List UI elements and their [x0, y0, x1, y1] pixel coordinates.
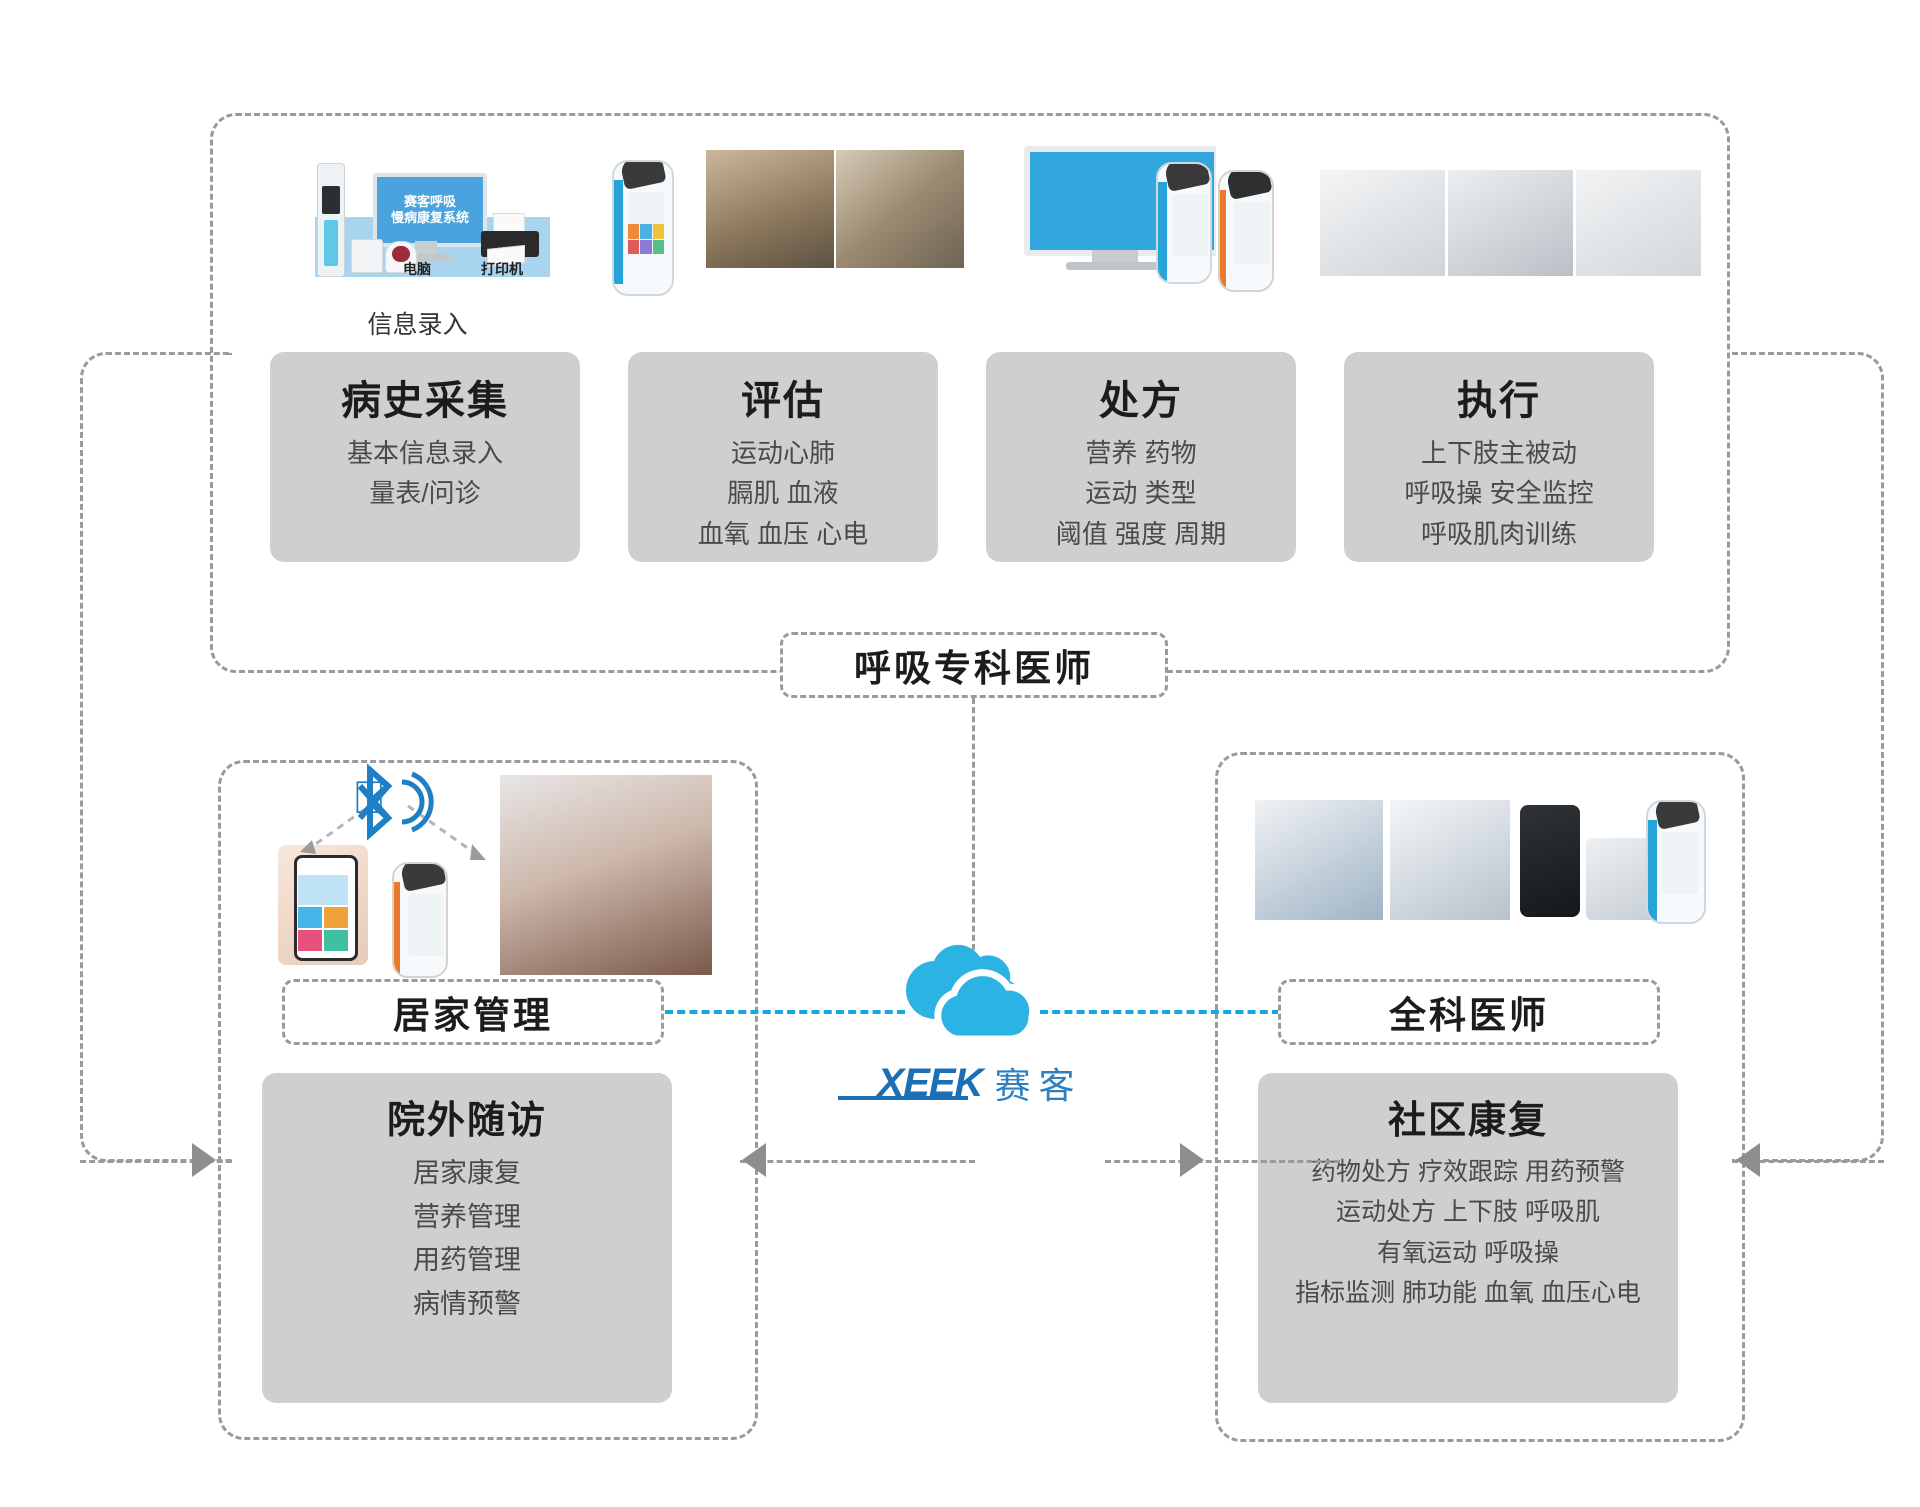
cloud-glyph: [890, 935, 1050, 1075]
community-spirometer-edge: [1648, 820, 1657, 924]
rehab-bike-photo: [1448, 170, 1573, 276]
monitor-stand: [415, 241, 437, 255]
blood-pressure-monitor-photo: [1320, 170, 1445, 276]
stage-card-prescription[interactable]: 处方 营养 药物 运动 类型 阈值 强度 周期: [986, 352, 1296, 562]
history-media-caption: 信息录入: [285, 305, 550, 341]
handheld-spirometer-icon: [1156, 162, 1212, 284]
second-handheld-device-icon: [1218, 170, 1274, 292]
label-printer: 打印机: [481, 259, 523, 279]
stage-line: 量表/问诊: [369, 473, 480, 513]
stage-line: 阈值 强度 周期: [1056, 514, 1226, 554]
stage-lines-execution: 上下肢主被动 呼吸操 安全监控 呼吸肌肉训练: [1404, 433, 1593, 554]
monitor-text-line2: 慢病康复系统: [391, 210, 469, 226]
arrow-into-right-panel: [1180, 1143, 1204, 1177]
printer-icon: [481, 213, 539, 259]
followup-title: 院外随访: [387, 1099, 547, 1144]
spirometer-edge: [614, 180, 623, 284]
pc-base: [1066, 262, 1166, 270]
community-spirometer-icon: [1646, 800, 1706, 924]
home-spirometer-edge: [394, 882, 400, 978]
followup-line: 营养管理: [413, 1196, 521, 1240]
handheld-mouthpiece: [1163, 162, 1210, 192]
home-spirometer-screen: [408, 894, 444, 956]
followup-line: 用药管理: [413, 1239, 521, 1283]
stage-lines-history: 基本信息录入 量表/问诊: [347, 433, 503, 514]
kiosk-body: [324, 220, 338, 266]
label-computer: 电脑: [403, 259, 431, 279]
stage-title-execution: 执行: [1457, 378, 1541, 425]
logo-underline-left: [838, 1096, 968, 1100]
smart-watch-photo: [1576, 170, 1701, 276]
arrow-toward-left-panel: [742, 1143, 766, 1177]
spirometer-app-tiles: [628, 224, 664, 254]
second-device-edge: [1220, 190, 1226, 292]
stage-card-history[interactable]: 病史采集 基本信息录入 量表/问诊: [270, 352, 580, 562]
specialist-to-cloud-connector: [972, 698, 975, 950]
arrow-toward-right-panel: [1736, 1143, 1760, 1177]
cloud-to-gp-connector: [1040, 1010, 1280, 1014]
stage-line: 基本信息录入: [347, 433, 503, 473]
pc-stand: [1092, 250, 1138, 262]
kiosk-screen: [322, 186, 340, 214]
diagram-canvas: 赛客呼吸 慢病康复系统 电脑 打印机 信息录入: [0, 0, 1920, 1507]
followup-line: 病情预警: [413, 1283, 521, 1327]
stage-title-history: 病史采集: [341, 378, 509, 425]
spirometer-mouthpiece: [619, 160, 666, 190]
patient-using-spirometer-photo: [500, 775, 712, 975]
stage-lines-assessment: 运动心肺 膈肌 血液 血氧 血压 心电: [698, 433, 868, 554]
history-media-group: 赛客呼吸 慢病康复系统 电脑 打印机: [285, 155, 550, 290]
followup-lines: 居家康复 营养管理 用药管理 病情预警: [413, 1152, 521, 1327]
brand-logo: XEEK 赛客: [835, 1055, 1125, 1111]
desktop-monitor-icon: 赛客呼吸 慢病康复系统: [373, 173, 487, 247]
arrow-into-left-panel: [192, 1143, 216, 1177]
stage-card-execution[interactable]: 执行 上下肢主被动 呼吸操 安全监控 呼吸肌肉训练: [1344, 352, 1654, 562]
monitor-text-line1: 赛客呼吸: [404, 194, 456, 210]
treadmill-photo: [836, 150, 964, 268]
community-title: 社区康复: [1388, 1099, 1548, 1144]
cloud-to-home-connector: [665, 1010, 905, 1014]
second-device-screen: [1234, 202, 1270, 264]
card-outpatient-followup[interactable]: 院外随访 居家康复 营养管理 用药管理 病情预警: [262, 1073, 672, 1403]
stage-line: 上下肢主被动: [1421, 433, 1577, 473]
stage-lines-prescription: 营养 药物 运动 类型 阈值 强度 周期: [1056, 433, 1226, 554]
stage-line: 运动心肺: [731, 433, 835, 473]
role-label-home-management[interactable]: 居家管理: [282, 979, 664, 1045]
role-label-respiratory-specialist[interactable]: 呼吸专科医师: [780, 632, 1168, 698]
mid-left-return-line: [740, 1160, 975, 1163]
stage-line: 营养 药物: [1085, 433, 1196, 473]
card-reader-icon: [351, 239, 383, 273]
rehab-bicycle-photo: [1390, 800, 1510, 920]
upper-limb-trainer-photo: [1255, 800, 1383, 920]
card-community-rehabilitation[interactable]: 社区康复 药物处方 疗效跟踪 用药预警 运动处方 上下肢 呼吸肌 有氧运动 呼吸…: [1258, 1073, 1678, 1403]
handheld-edge: [1158, 182, 1167, 284]
right-routing-frame: [1732, 352, 1884, 1162]
stage-title-prescription: 处方: [1099, 378, 1183, 425]
stage-line: 运动 类型: [1085, 473, 1196, 513]
community-spirometer-mouthpiece: [1653, 800, 1700, 830]
height-weight-kiosk-icon: [317, 163, 345, 277]
stage-card-assessment[interactable]: 评估 运动心肺 膈肌 血液 血氧 血压 心电: [628, 352, 938, 562]
community-line: 有氧运动 呼吸操: [1377, 1233, 1559, 1274]
handheld-screen: [1172, 194, 1208, 256]
phone-app-tiles: [298, 907, 348, 951]
stage-line: 膈肌 血液: [727, 473, 838, 513]
community-line: 运动处方 上下肢 呼吸肌: [1336, 1192, 1600, 1233]
stage-line: 呼吸肌肉训练: [1421, 514, 1577, 554]
wearable-watch-photo: [1520, 805, 1580, 917]
community-line: 指标监测 肺功能 血氧 血压心电: [1295, 1273, 1641, 1314]
bluetooth-glyph: [330, 760, 450, 840]
stage-title-assessment: 评估: [741, 378, 825, 425]
community-spirometer-screen: [1662, 832, 1698, 894]
community-line: 药物处方 疗效跟踪 用药预警: [1311, 1152, 1625, 1193]
second-device-top: [1225, 170, 1272, 200]
logo-chinese-name: 赛客: [994, 1057, 1082, 1109]
stage-line: 呼吸操 安全监控: [1404, 473, 1593, 513]
cpet-equipment-photo: [706, 150, 834, 268]
stage-line: 血氧 血压 心电: [698, 514, 868, 554]
community-lines: 药物处方 疗效跟踪 用药预警 运动处方 上下肢 呼吸肌 有氧运动 呼吸操 指标监…: [1295, 1152, 1641, 1314]
followup-line: 居家康复: [413, 1152, 521, 1196]
role-label-general-practitioner[interactable]: 全科医师: [1278, 979, 1660, 1045]
spirometer-device-icon: [612, 160, 674, 296]
mid-right-return-line: [1105, 1160, 1340, 1163]
